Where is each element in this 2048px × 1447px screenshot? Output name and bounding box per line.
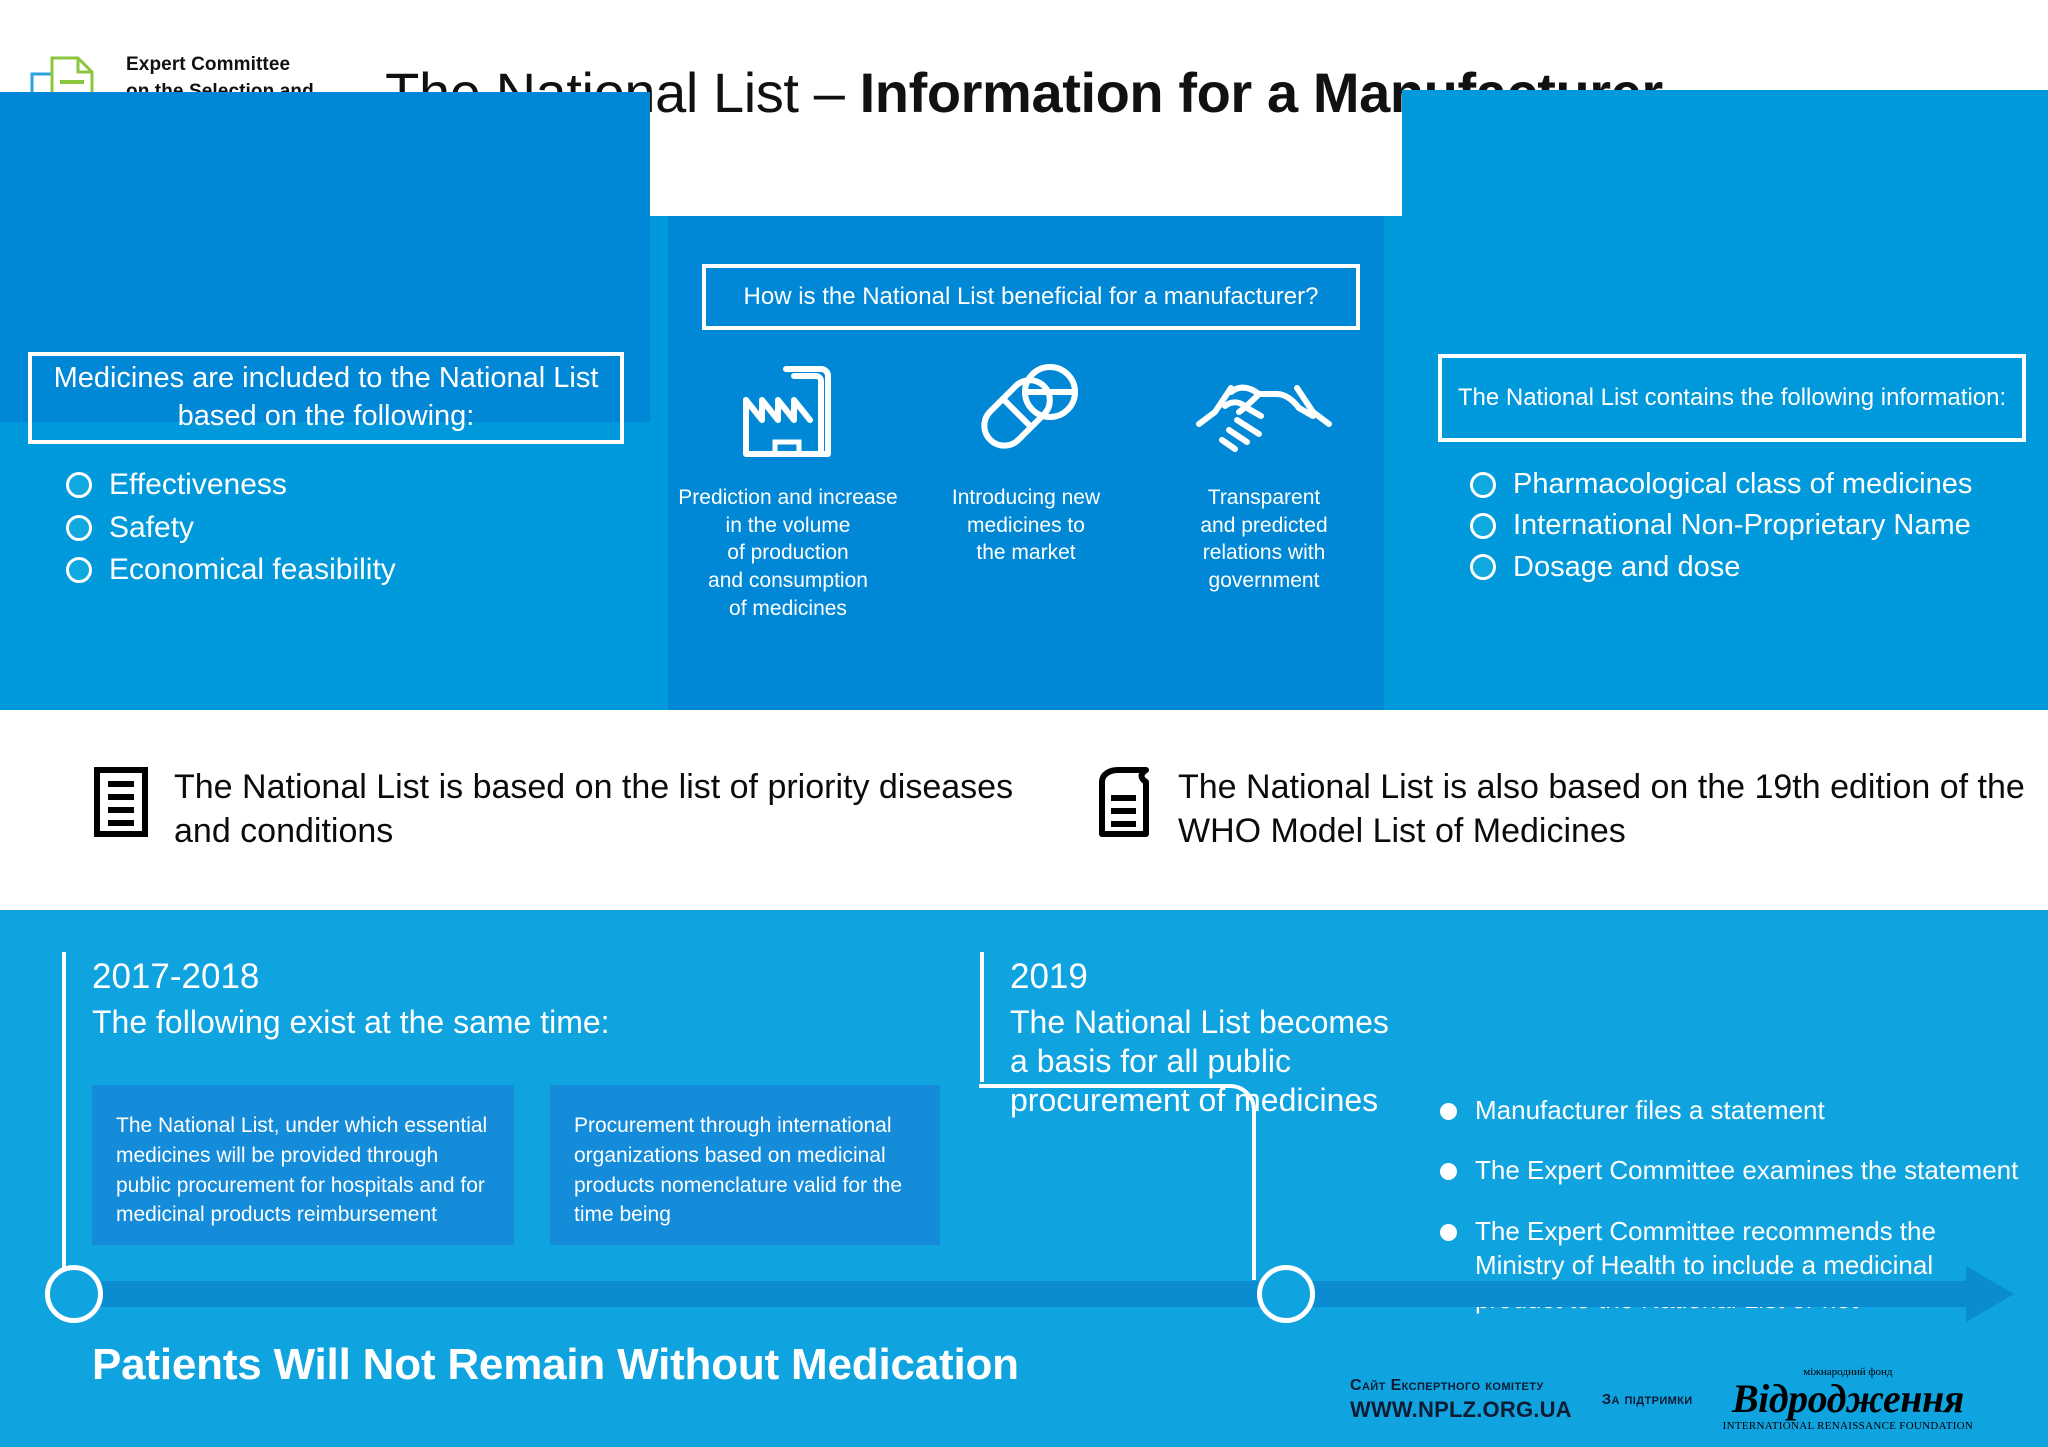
circle-bullet-icon (66, 472, 92, 498)
list-item-label: Safety (109, 511, 194, 546)
timeline-node-2017 (45, 1265, 103, 1323)
list-item-label: The Expert Committee examines the statem… (1475, 1153, 2018, 1187)
list-item-label: Pharmacological class of medicines (1513, 468, 1972, 501)
circle-bullet-icon (1470, 513, 1496, 539)
footer-headline: Patients Will Not Remain Without Medicat… (92, 1340, 1019, 1390)
right-panel-heading: The National List contains the following… (1438, 354, 2026, 442)
center-panel-heading: How is the National List beneficial for … (702, 264, 1360, 330)
factory-icon (728, 352, 848, 462)
handshake-icon (1189, 352, 1339, 462)
fact-box: Procurement through international organi… (550, 1085, 940, 1245)
benefit-caption: Introducing newmedicines tothe market (944, 484, 1108, 567)
support-label: За підтримки (1602, 1391, 1693, 1408)
list-item: The Expert Committee examines the statem… (1440, 1153, 2020, 1187)
timeline-arrow-icon (1966, 1266, 2014, 1322)
contents-list: Pharmacological class of medicines Inter… (1470, 468, 1972, 592)
basis-item-who-model-list: The National List is also based on the 1… (1096, 766, 2046, 853)
benefit-item-new-medicines: Introducing newmedicines tothe market (907, 352, 1145, 567)
timeline-rule-2019 (980, 952, 984, 1082)
circle-bullet-icon (66, 557, 92, 583)
list-item: Dosage and dose (1470, 551, 1972, 584)
timeline-rule-2017 (62, 952, 66, 1302)
timeline-connector (975, 1080, 1295, 1290)
circle-bullet-icon (66, 515, 92, 541)
document-lines-icon (92, 766, 150, 843)
benefit-caption: Transparentand predictedrelations withgo… (1192, 484, 1335, 595)
list-item-label: Dosage and dose (1513, 551, 1740, 584)
infographic-root: Expert Committee on the Selection and Us… (0, 0, 2048, 1447)
list-item-label: Effectiveness (109, 468, 287, 503)
timeline-axis (62, 1281, 1974, 1307)
list-item: Pharmacological class of medicines (1470, 468, 1972, 501)
basis-item-text: The National List is based on the list o… (174, 766, 1032, 853)
list-item-label: International Non-Proprietary Name (1513, 509, 1971, 542)
milestone-subtitle: The following exist at the same time: (92, 1003, 712, 1042)
list-item-label: Economical feasibility (109, 553, 396, 588)
partner-logo-bottom: INTERNATIONAL RENAISSANCE FOUNDATION (1723, 1421, 1974, 1432)
list-item: Manufacturer files a statement (1440, 1093, 2020, 1127)
site-credit-caption: Сайт Експертного комітету (1350, 1376, 1572, 1397)
partner-logo-name: Відродження (1723, 1379, 1974, 1419)
partner-logo: міжнародний фонд Відродження INTERNATION… (1723, 1367, 1974, 1432)
fact-box: The National List, under which essential… (92, 1085, 514, 1245)
pills-icon (966, 352, 1086, 462)
site-credit: Сайт Експертного комітету WWW.NPLZ.ORG.U… (1350, 1376, 1572, 1423)
basis-item-priority-diseases: The National List is based on the list o… (92, 766, 1032, 853)
footer-credits: Сайт Експертного комітету WWW.NPLZ.ORG.U… (1350, 1367, 1973, 1432)
left-panel-heading: Medicines are included to the National L… (28, 352, 624, 444)
list-item: International Non-Proprietary Name (1470, 509, 1972, 542)
benefit-item-relations: Transparentand predictedrelations withgo… (1145, 352, 1383, 595)
milestone-year: 2019 (1010, 958, 1410, 997)
list-item: Safety (66, 511, 396, 546)
site-credit-url[interactable]: WWW.NPLZ.ORG.UA (1350, 1397, 1572, 1423)
book-lines-icon (1096, 766, 1154, 843)
dot-bullet-icon (1440, 1163, 1457, 1180)
list-item-label: Manufacturer files a statement (1475, 1093, 1825, 1127)
timeline-node-2019 (1257, 1265, 1315, 1323)
circle-bullet-icon (1470, 554, 1496, 580)
basis-item-text: The National List is also based on the 1… (1178, 766, 2046, 853)
benefits-row: Prediction and increasein the volumeof p… (668, 352, 1384, 623)
benefit-item-production: Prediction and increasein the volumeof p… (669, 352, 907, 623)
circle-bullet-icon (1470, 472, 1496, 498)
list-item: Economical feasibility (66, 553, 396, 588)
milestone-2017: 2017-2018 The following exist at the sam… (92, 958, 712, 1042)
benefit-caption: Prediction and increasein the volumeof p… (670, 484, 905, 623)
milestone-year: 2017-2018 (92, 958, 712, 997)
dot-bullet-icon (1440, 1103, 1457, 1120)
list-item: Effectiveness (66, 468, 396, 503)
dot-bullet-icon (1440, 1224, 1457, 1241)
criteria-list: Effectiveness Safety Economical feasibil… (66, 468, 396, 596)
